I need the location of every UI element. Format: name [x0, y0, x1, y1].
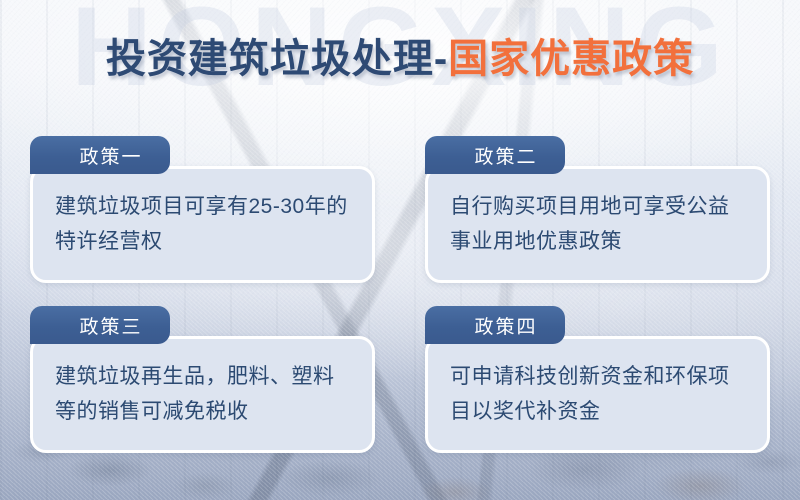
policy-card-3-body: 建筑垃圾再生品，肥料、塑料等的销售可减免税收 — [30, 336, 375, 453]
policy-poster: HONGXING 投资建筑垃圾处理-国家优惠政策 建筑垃圾项目可享有25-30年… — [0, 0, 800, 500]
policy-card-4-tab: 政策四 — [425, 306, 565, 344]
policy-card-1-tab: 政策一 — [30, 136, 170, 174]
policy-card-4: 可申请科技创新资金和环保项目以奖代补资金 政策四 — [425, 306, 770, 453]
policy-card-4-body: 可申请科技创新资金和环保项目以奖代补资金 — [425, 336, 770, 453]
policy-card-4-text: 可申请科技创新资金和环保项目以奖代补资金 — [450, 360, 745, 428]
page-title: 投资建筑垃圾处理-国家优惠政策 — [0, 34, 800, 84]
policy-card-2-text: 自行购买项目用地可享受公益事业用地优惠政策 — [450, 190, 745, 258]
policy-card-3: 建筑垃圾再生品，肥料、塑料等的销售可减免税收 政策三 — [30, 306, 375, 453]
policy-card-1-text: 建筑垃圾项目可享有25-30年的特许经营权 — [55, 190, 350, 258]
policy-card-2-body: 自行购买项目用地可享受公益事业用地优惠政策 — [425, 166, 770, 283]
policy-card-3-tab: 政策三 — [30, 306, 170, 344]
policy-card-1: 建筑垃圾项目可享有25-30年的特许经营权 政策一 — [30, 136, 375, 283]
policy-card-2-tab: 政策二 — [425, 136, 565, 174]
policy-card-2: 自行购买项目用地可享受公益事业用地优惠政策 政策二 — [425, 136, 770, 283]
policy-card-1-body: 建筑垃圾项目可享有25-30年的特许经营权 — [30, 166, 375, 283]
policy-card-3-text: 建筑垃圾再生品，肥料、塑料等的销售可减免税收 — [55, 360, 350, 428]
page-title-accent: 国家优惠政策 — [448, 37, 694, 81]
page-title-main: 投资建筑垃圾处理- — [106, 37, 448, 81]
